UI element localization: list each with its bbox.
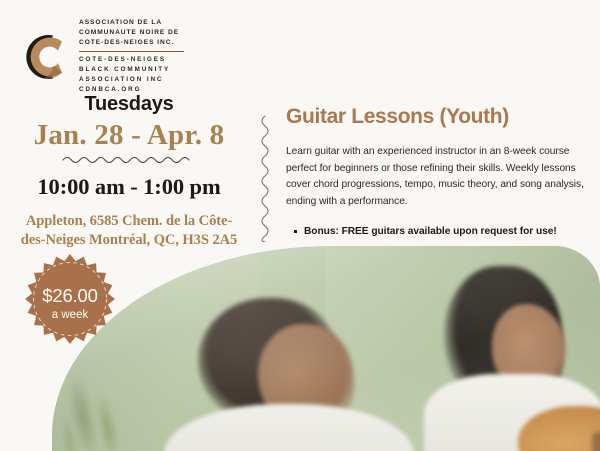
venue-address: Appleton, 6585 Chem. de la Côte-des-Neig…: [0, 212, 258, 251]
vertical-wavy-divider-icon: [258, 114, 272, 242]
time-range-label: 10:00 am - 1:00 pm: [0, 173, 258, 201]
starburst-badge-icon: [18, 252, 122, 356]
cdnbca-c-logo-icon: [22, 26, 70, 88]
weekday-label: Tuesdays: [0, 92, 258, 116]
course-bullet-list: Bonus: FREE guitars available upon reque…: [286, 224, 588, 239]
logo-line-french: ASSOCIATION DE LA COMMUNAUTE NOIRE DE CO…: [79, 18, 184, 48]
course-description: Learn guitar with an experienced instruc…: [286, 144, 588, 210]
logo-line-english: COTE-DES-NEIGES BLACK COMMUNITY ASSOCIAT…: [79, 55, 184, 96]
logo-wordmark: ASSOCIATION DE LA COMMUNAUTE NOIRE DE CO…: [79, 18, 184, 95]
logo-divider-rule: [79, 51, 184, 52]
course-title: Guitar Lessons (Youth): [286, 104, 588, 129]
poster-flyer: ASSOCIATION DE LA COMMUNAUTE NOIRE DE CO…: [0, 0, 600, 451]
lesson-photo: [52, 246, 600, 451]
schedule-block: Tuesdays Jan. 28 - Apr. 8 10:00 am - 1:0…: [0, 92, 258, 250]
organization-logo: ASSOCIATION DE LA COMMUNAUTE NOIRE DE CO…: [22, 18, 184, 95]
price-badge: $26.00 a week: [18, 252, 122, 356]
date-range-label: Jan. 28 - Apr. 8: [0, 118, 258, 153]
photo-image: [52, 246, 600, 451]
wavy-underline-icon: [62, 154, 196, 165]
photo-overlay-wash: [52, 246, 600, 451]
list-item: Bonus: FREE guitars available upon reque…: [304, 224, 588, 239]
course-details: Guitar Lessons (Youth) Learn guitar with…: [286, 104, 588, 240]
